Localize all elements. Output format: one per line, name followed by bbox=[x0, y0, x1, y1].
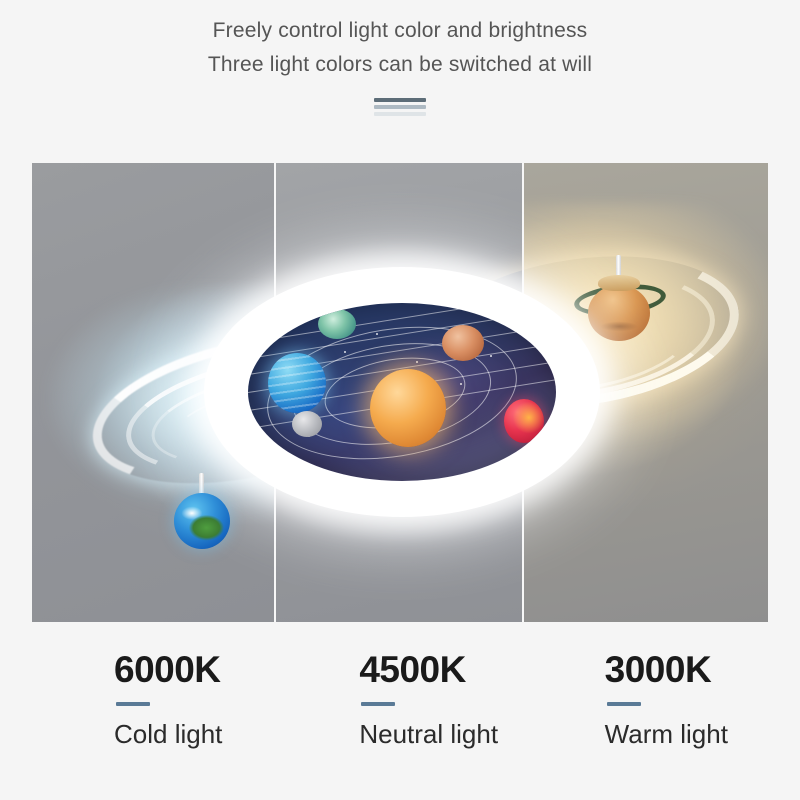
kelvin-value-neutral: 4500K bbox=[359, 648, 522, 692]
kelvin-value-warm: 3000K bbox=[605, 648, 768, 692]
accent-underline-neutral bbox=[361, 702, 395, 706]
light-name-cold: Cold light bbox=[114, 718, 277, 750]
light-name-neutral: Neutral light bbox=[359, 718, 522, 750]
light-bloom-cold bbox=[44, 283, 274, 513]
light-name-warm: Warm light bbox=[605, 718, 768, 750]
header: Freely control light color and brightnes… bbox=[0, 0, 800, 116]
ceiling-surface-neutral bbox=[276, 163, 522, 622]
color-mode-labels: 6000K Cold light 4500K Neutral light 300… bbox=[32, 648, 768, 750]
section-divider bbox=[374, 98, 426, 116]
color-mode-cold: 6000K Cold light bbox=[32, 648, 277, 750]
light-bloom-warm bbox=[524, 203, 768, 443]
product-showcase-strip bbox=[32, 163, 768, 622]
divider-bar-bottom bbox=[374, 112, 426, 116]
panel-warm-light bbox=[524, 163, 768, 622]
color-mode-neutral: 4500K Neutral light bbox=[277, 648, 522, 750]
headline-primary: Freely control light color and brightnes… bbox=[0, 14, 800, 48]
panel-neutral-light bbox=[276, 163, 522, 622]
accent-underline-warm bbox=[607, 702, 641, 706]
accent-underline-cold bbox=[116, 702, 150, 706]
color-mode-warm: 3000K Warm light bbox=[523, 648, 768, 750]
divider-bar-top bbox=[374, 98, 426, 102]
kelvin-value-cold: 6000K bbox=[114, 648, 277, 692]
divider-bar-middle bbox=[374, 105, 426, 109]
panel-cold-light bbox=[32, 163, 274, 622]
headline-secondary: Three light colors can be switched at wi… bbox=[0, 48, 800, 82]
